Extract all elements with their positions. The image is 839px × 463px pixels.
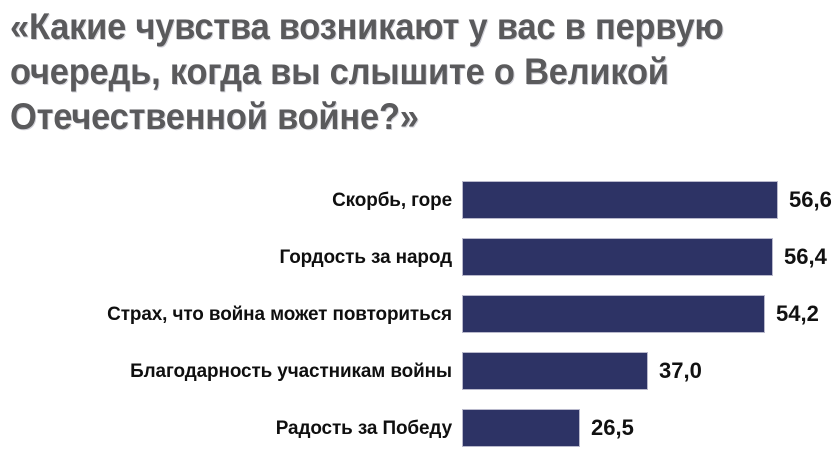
bar-fill xyxy=(462,181,778,219)
bar-row: Страх, что война может повториться 54,2 xyxy=(0,291,839,337)
bar-value-label: 26,5 xyxy=(591,417,634,439)
bar-track: 54,2 xyxy=(462,295,819,333)
bar-category-label: Радость за Победу xyxy=(14,405,452,451)
bar-row: Скорбь, горе 56,6 xyxy=(0,177,839,223)
bar-category-label: Страх, что война может повториться xyxy=(14,291,452,337)
bar-fill xyxy=(462,352,648,390)
page-title-line-2: очередь, когда вы слышите о Великой xyxy=(10,49,773,94)
page-title-line-3: Отечественной войне?» xyxy=(10,94,773,139)
page-title: «Какие чувства возникают у вас в первую … xyxy=(10,4,830,139)
infographic-root: «Какие чувства возникают у вас в первую … xyxy=(0,0,839,463)
bar-row: Гордость за народ 56,4 xyxy=(0,234,839,280)
bar-fill xyxy=(462,295,765,333)
bar-track: 56,4 xyxy=(462,238,827,276)
bar-category-label: Гордость за народ xyxy=(14,234,452,280)
bar-row: Радость за Победу 26,5 xyxy=(0,405,839,451)
bar-value-label: 56,4 xyxy=(784,246,827,268)
bar-value-label: 54,2 xyxy=(776,303,819,325)
bar-chart: Скорбь, горе 56,6 Гордость за народ 56,4… xyxy=(0,172,839,463)
bar-fill xyxy=(462,238,773,276)
bar-row: Благодарность участникам войны 37,0 xyxy=(0,348,839,394)
page-title-line-1: «Какие чувства возникают у вас в первую xyxy=(10,4,773,49)
bar-fill xyxy=(462,409,580,447)
bar-category-label: Благодарность участникам войны xyxy=(14,348,452,394)
bar-value-label: 37,0 xyxy=(659,360,702,382)
bar-track: 56,6 xyxy=(462,181,832,219)
bar-category-label: Скорбь, горе xyxy=(14,177,452,223)
bar-track: 26,5 xyxy=(462,409,634,447)
bar-value-label: 56,6 xyxy=(789,189,832,211)
bar-track: 37,0 xyxy=(462,352,702,390)
